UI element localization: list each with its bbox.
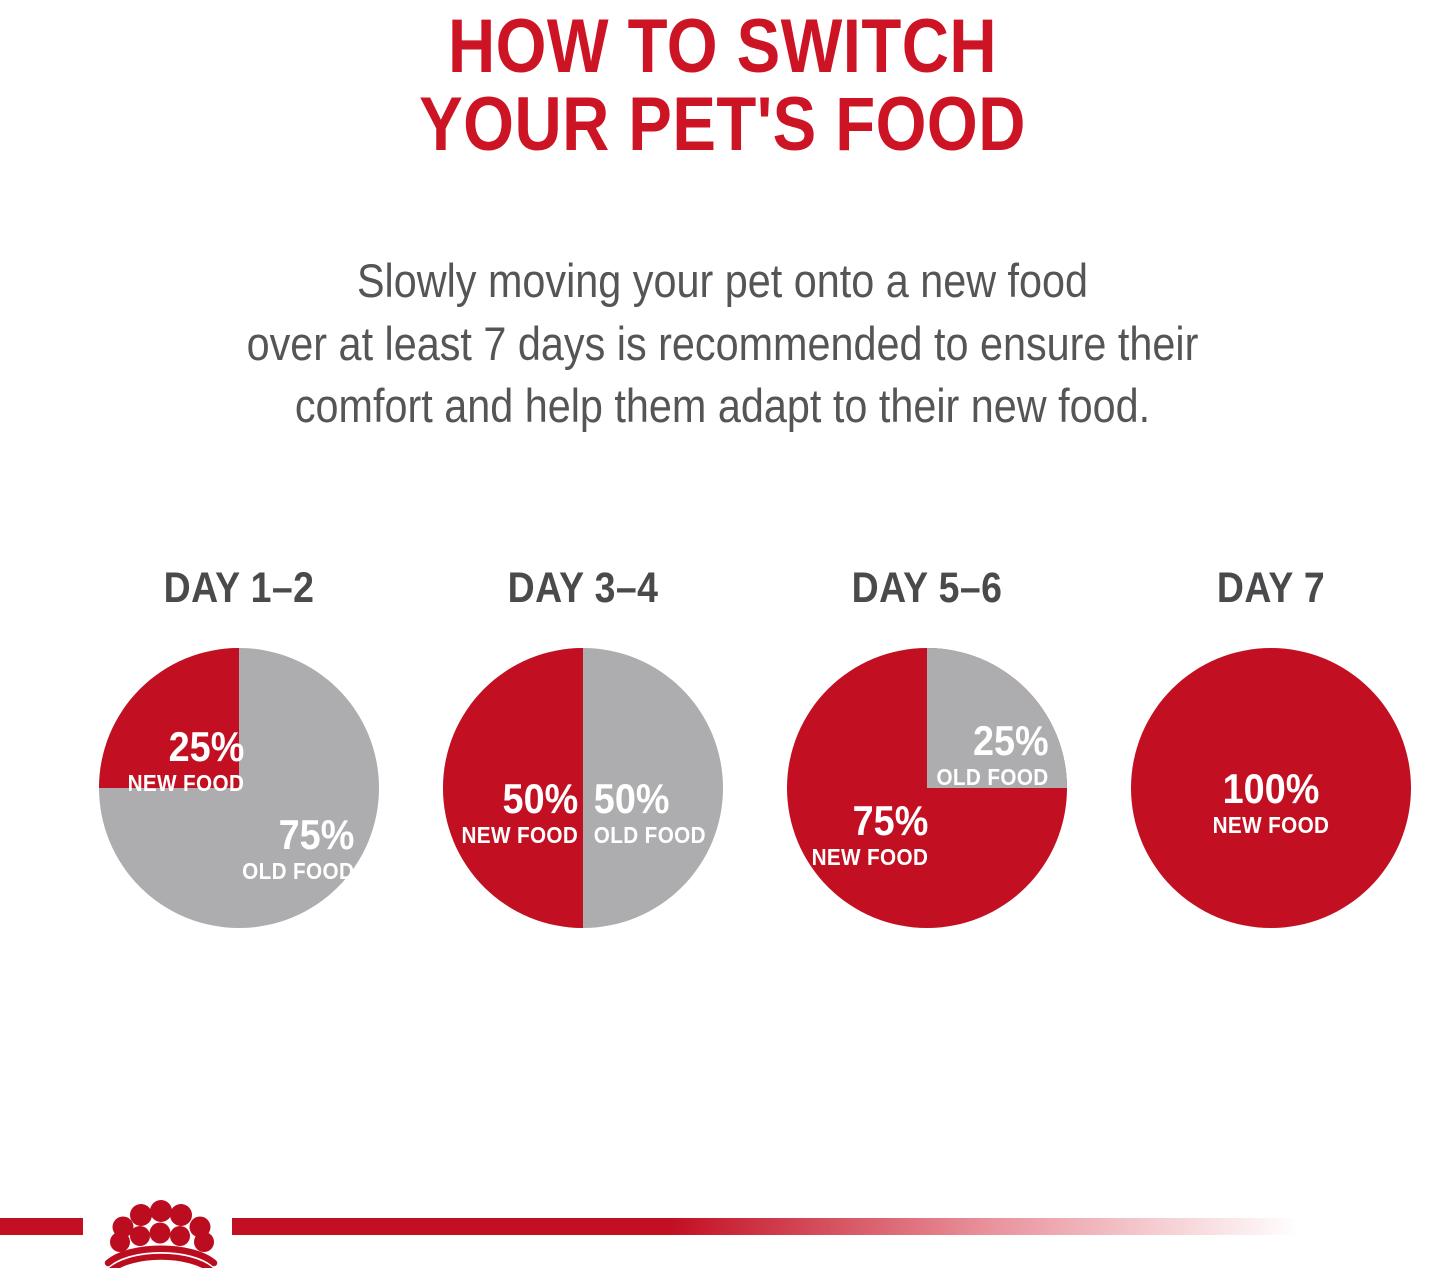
page-title: HOW TO SWITCH YOUR PET'S FOOD [101, 8, 1344, 165]
pie-food-new-3: NEW FOOD [808, 846, 929, 869]
pie-chart-row: DAY 1–2 25% NEW FOOD 75% OLD FOOD DAY 3–… [0, 560, 1445, 960]
pie-pct-old-1: 75% [234, 814, 355, 856]
pie-pct-new-4: 100% [1199, 768, 1343, 810]
pie-pct-new-3: 75% [808, 800, 929, 842]
pie-pct-old-2: 50% [594, 778, 716, 820]
footer-rule-right [232, 1218, 1445, 1235]
footer-rule-left [0, 1218, 83, 1235]
pie-pct-old-3: 25% [933, 720, 1048, 762]
pie-food-new-2: NEW FOOD [456, 824, 578, 847]
pie-chart-day-7: DAY 7 100% NEW FOOD [1106, 560, 1436, 960]
pie-food-new-1: NEW FOOD [124, 772, 245, 795]
pie-chart-day-3-4: DAY 3–4 50% NEW FOOD 50% OLD FOOD [418, 560, 748, 960]
pie-graphic-4: 100% NEW FOOD [1131, 648, 1411, 928]
day-label-1: DAY 1–2 [95, 564, 382, 613]
pie-food-old-3: OLD FOOD [933, 766, 1048, 789]
footer-logo-bar [0, 1196, 1445, 1265]
intro-line-1: Slowly moving your pet onto a new food [87, 250, 1359, 313]
pie-pct-new-1: 25% [124, 726, 245, 768]
day-label-4: DAY 7 [1127, 564, 1414, 613]
page-title-line-1: HOW TO SWITCH [101, 8, 1344, 86]
intro-line-2: over at least 7 days is recommended to e… [87, 313, 1359, 376]
pie-graphic-2: 50% NEW FOOD 50% OLD FOOD [443, 648, 723, 928]
page-title-line-2: YOUR PET'S FOOD [101, 86, 1344, 164]
crown-icon [88, 1188, 232, 1268]
pie-graphic-1: 25% NEW FOOD 75% OLD FOOD [99, 648, 379, 928]
day-label-3: DAY 5–6 [783, 564, 1070, 613]
pie-pct-new-2: 50% [456, 778, 578, 820]
pie-food-new-4: NEW FOOD [1199, 814, 1343, 837]
pie-label-new-food-4: 100% NEW FOOD [1199, 768, 1343, 837]
pie-label-new-food-2: 50% NEW FOOD [456, 778, 578, 847]
pie-food-old-1: OLD FOOD [234, 860, 355, 883]
pie-label-new-food-1: 25% NEW FOOD [124, 726, 245, 795]
pie-label-new-food-3: 75% NEW FOOD [808, 800, 929, 869]
pie-chart-day-1-2: DAY 1–2 25% NEW FOOD 75% OLD FOOD [74, 560, 404, 960]
day-label-2: DAY 3–4 [439, 564, 726, 613]
pie-label-old-food-3: 25% OLD FOOD [933, 720, 1048, 789]
pie-chart-day-5-6: DAY 5–6 25% OLD FOOD 75% NEW FOOD [762, 560, 1092, 960]
pie-graphic-3: 25% OLD FOOD 75% NEW FOOD [787, 648, 1067, 928]
intro-paragraph: Slowly moving your pet onto a new food o… [87, 250, 1359, 438]
pie-food-old-2: OLD FOOD [594, 824, 716, 847]
intro-line-3: comfort and help them adapt to their new… [87, 375, 1359, 438]
pie-label-old-food-1: 75% OLD FOOD [234, 814, 355, 883]
pie-label-old-food-2: 50% OLD FOOD [594, 778, 716, 847]
